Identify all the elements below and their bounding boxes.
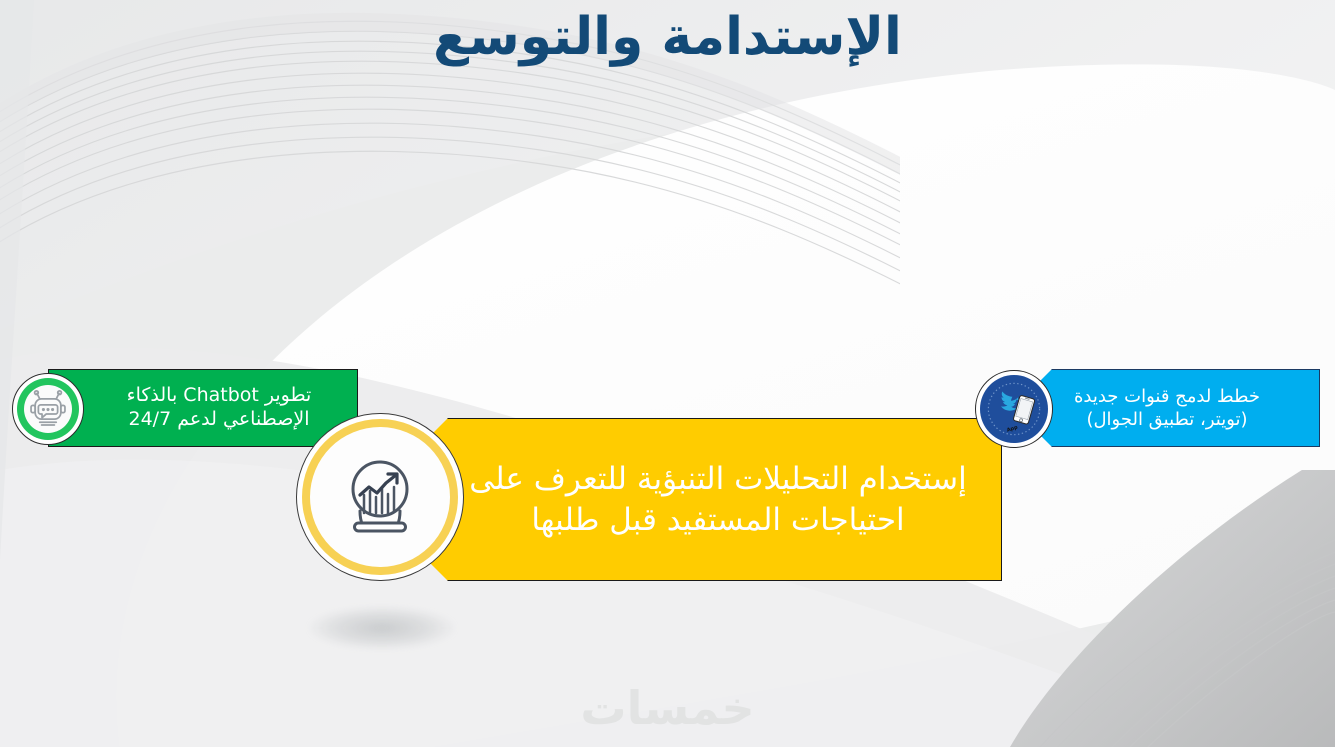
predictive-analytics-banner[interactable]: إستخدام التحليلات التنبؤية للتعرف على اح…	[430, 418, 1002, 581]
predictive-analytics-badge-inner	[310, 427, 450, 567]
chatbot-badge[interactable]	[12, 373, 84, 445]
watermark-khamsat: خمسات	[0, 681, 1335, 735]
presentation-slide: الإستدامة والتوسع تطوير Chatbot بالذكاء …	[0, 0, 1335, 747]
chatbot-banner[interactable]: تطوير Chatbot بالذكاء الإصطناعي لدعم 24/…	[48, 369, 358, 447]
chatbot-badge-inner	[24, 385, 72, 433]
new-channels-badge[interactable]: App	[975, 370, 1053, 448]
new-channels-banner-label: خطط لدمج قنوات جديدة (تويتر، تطبيق الجوا…	[1038, 385, 1320, 432]
new-channels-banner[interactable]: خطط لدمج قنوات جديدة (تويتر، تطبيق الجوا…	[1038, 369, 1320, 447]
twitter-mobile-app-icon: App	[984, 379, 1044, 439]
chatbot-banner-label: تطوير Chatbot بالذكاء الإصطناعي لدعم 24/…	[48, 384, 358, 432]
robot-chatbot-icon	[26, 387, 70, 431]
badge-drop-shadow	[308, 606, 456, 650]
new-channels-badge-inner: App	[984, 379, 1044, 439]
predictive-analytics-banner-label: إستخدام التحليلات التنبؤية للتعرف على اح…	[430, 418, 1002, 581]
predictive-analytics-badge[interactable]	[296, 413, 464, 581]
slide-title: الإستدامة والتوسع	[0, 8, 1335, 68]
crystal-ball-analytics-icon	[328, 445, 432, 549]
